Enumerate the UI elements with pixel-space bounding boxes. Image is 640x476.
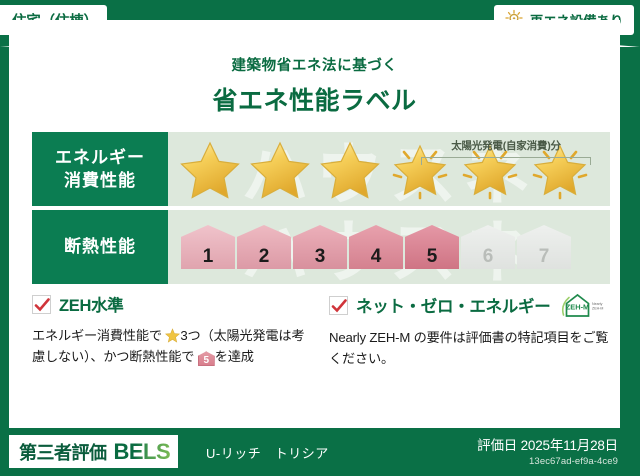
zeh-desc-part3: を達成	[215, 349, 254, 364]
badge-value: 3	[315, 247, 326, 266]
insulation-badge-3: 3	[293, 225, 347, 269]
zeh-standard-title: ZEH水準	[59, 292, 124, 316]
label-title-block: 建築物省エネ法に基づく 省エネ性能ラベル	[9, 54, 620, 117]
insulation-badge-2: 2	[237, 225, 291, 269]
netzero-checkbox	[329, 296, 348, 315]
zeh-standard-description: エネルギー消費性能で 3つ（太陽光発電は考慮しない）、かつ断熱性能で 5を達成	[32, 325, 313, 368]
zeh-star-count: 3つ	[180, 328, 200, 343]
star-filled-solar	[527, 138, 593, 200]
insulation-badge-5-achieved: 5	[405, 225, 459, 269]
svg-text:ZEH-M: ZEH-M	[592, 307, 603, 311]
star-rating	[177, 138, 593, 200]
insulation-badge-7-inactive: 7	[517, 225, 571, 269]
badge-value: 1	[203, 247, 214, 266]
evaluation-id: 13ec67ad-ef9a-4ce9	[477, 456, 618, 467]
badge-value: 5	[427, 247, 438, 266]
evaluation-date: 評価日 2025年11月28日	[477, 434, 618, 454]
evaluation-date-label: 評価日	[477, 438, 517, 453]
footer: 第三者評価 BELS U-リッチ トリシア 評価日 2025年11月28日 13…	[0, 428, 640, 476]
energy-label-line2: 消費性能	[64, 169, 136, 192]
inline-star-icon	[165, 328, 180, 343]
star-filled-solar	[387, 138, 453, 200]
badge-value: 7	[539, 247, 550, 266]
inline-insulation-badge: 5	[198, 351, 215, 366]
energy-performance-label-block: エネルギー 消費性能	[32, 132, 168, 206]
star-filled	[317, 138, 383, 200]
ratings-section: エネルギー 消費性能 ハウスネ	[32, 132, 610, 284]
insulation-performance-row: 断熱性能 ハウスネ 1 2 3	[32, 210, 610, 284]
energy-performance-label: 住宅（住棟） 再エネ設備あり	[0, 0, 640, 476]
zeh-desc-part1: エネルギー消費性能で	[32, 328, 162, 343]
label-card: 建築物省エネ法に基づく 省エネ性能ラベル エネルギー 消費性能 ハウスネ	[9, 20, 620, 428]
badge-value: 6	[483, 247, 494, 266]
insulation-badge-1: 1	[181, 225, 235, 269]
insulation-badge-6-inactive: 6	[461, 225, 515, 269]
evaluation-date-value: 2025年11月28日	[521, 438, 618, 453]
net-zero-energy-description: Nearly ZEH-M の要件は評価書の特記項目をご覧ください。	[329, 327, 610, 370]
bels-mark: BELS	[114, 439, 171, 465]
insulation-level-badges: 1 2 3 4 5	[181, 225, 571, 269]
badge-value: 4	[371, 247, 382, 266]
zeh-m-logo-icon: ZEH-M Nearly ZEH-M	[560, 292, 604, 318]
energy-label-line1: エネルギー	[55, 146, 145, 169]
insulation-performance-label-block: 断熱性能	[32, 210, 168, 284]
star-filled	[247, 138, 313, 200]
insulation-label-line1: 断熱性能	[64, 235, 136, 258]
energy-performance-row: エネルギー 消費性能 ハウスネ	[32, 132, 610, 206]
bels-label: 第三者評価	[19, 439, 107, 465]
property-name: U-リッチ トリシア	[206, 443, 329, 462]
energy-performance-body: ハウスネ	[168, 132, 610, 206]
star-filled	[177, 138, 243, 200]
insulation-performance-body: ハウスネ 1 2 3 4	[168, 210, 610, 284]
insulation-badge-4: 4	[349, 225, 403, 269]
net-zero-energy-block: ネット・ゼロ・エネルギー ZEH-M Nearly ZEH-M Nearly Z…	[329, 292, 610, 370]
svg-text:ZEH-M: ZEH-M	[566, 303, 589, 312]
zeh-checkbox	[32, 295, 51, 314]
page-title: 省エネ性能ラベル	[9, 81, 620, 117]
svg-text:Nearly: Nearly	[592, 302, 603, 306]
label-subtitle: 建築物省エネ法に基づく	[9, 54, 620, 75]
star-filled-solar	[457, 138, 523, 200]
badge-value: 2	[259, 247, 270, 266]
evaluation-info: 評価日 2025年11月28日 13ec67ad-ef9a-4ce9	[477, 434, 618, 467]
info-section: ZEH水準 エネルギー消費性能で 3つ（太陽光発電は考慮しない）、かつ断熱性能で…	[32, 292, 610, 370]
bels-third-party-badge: 第三者評価 BELS	[9, 435, 178, 468]
net-zero-energy-title: ネット・ゼロ・エネルギー	[356, 293, 550, 317]
zeh-standard-block: ZEH水準 エネルギー消費性能で 3つ（太陽光発電は考慮しない）、かつ断熱性能で…	[32, 292, 313, 370]
